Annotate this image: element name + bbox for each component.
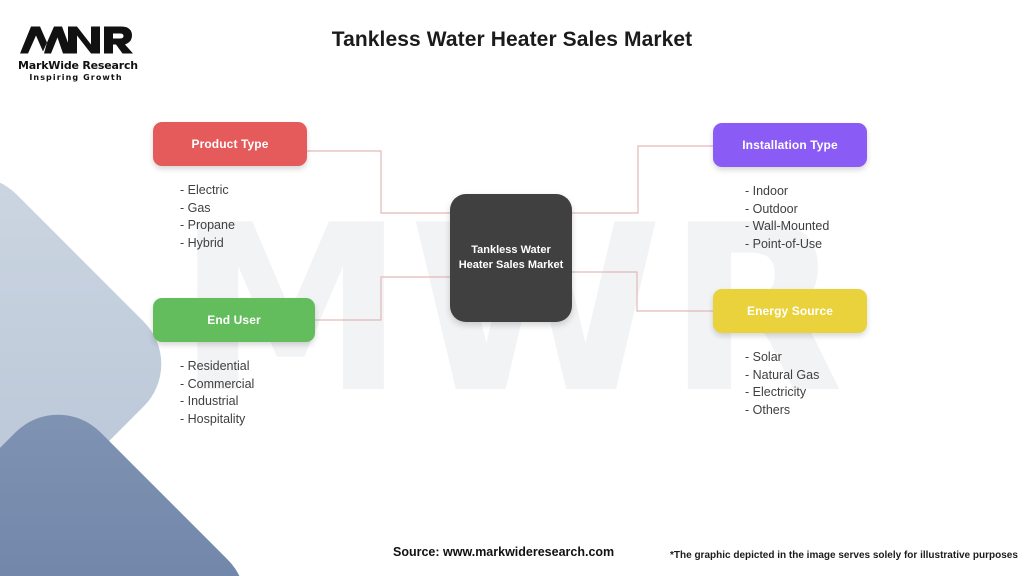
category-list-end-user: - Residential - Commercial - Industrial …	[153, 358, 315, 428]
category-energy-source: Energy Source - Solar - Natural Gas - El…	[713, 289, 867, 419]
list-item: - Wall-Mounted	[745, 218, 867, 236]
list-item: - Commercial	[180, 376, 315, 394]
center-node-text: Tankless Water Heater Sales Market	[451, 243, 572, 273]
category-header-product-type[interactable]: Product Type	[153, 122, 307, 166]
center-node: Tankless Water Heater Sales Market	[450, 194, 572, 322]
list-item: - Industrial	[180, 393, 315, 411]
infographic-canvas: MWR MarkWide Research Inspiring Growth T…	[0, 0, 1024, 576]
list-item: - Propane	[180, 217, 307, 235]
category-end-user: End User - Residential - Commercial - In…	[153, 298, 315, 428]
list-item: - Gas	[180, 200, 307, 218]
center-node-line1: Tankless Water	[471, 244, 550, 256]
category-list-installation-type: - Indoor - Outdoor - Wall-Mounted - Poin…	[713, 183, 867, 253]
connector-product-type	[307, 151, 450, 213]
category-header-end-user[interactable]: End User	[153, 298, 315, 342]
list-item: - Electricity	[745, 384, 867, 402]
category-list-product-type: - Electric - Gas - Propane - Hybrid	[153, 182, 307, 252]
source-label: Source: www.markwideresearch.com	[393, 545, 614, 559]
connector-end-user	[315, 277, 450, 320]
list-item: - Hybrid	[180, 235, 307, 253]
category-installation-type: Installation Type - Indoor - Outdoor - W…	[713, 123, 867, 253]
connector-installation-type	[572, 146, 713, 213]
category-list-energy-source: - Solar - Natural Gas - Electricity - Ot…	[713, 349, 867, 419]
list-item: - Others	[745, 402, 867, 420]
list-item: - Point-of-Use	[745, 236, 867, 254]
list-item: - Indoor	[745, 183, 867, 201]
list-item: - Solar	[745, 349, 867, 367]
center-node-line2: Heater Sales Market	[459, 259, 564, 271]
list-item: - Residential	[180, 358, 315, 376]
disclaimer-label: *The graphic depicted in the image serve…	[670, 550, 1018, 561]
list-item: - Electric	[180, 182, 307, 200]
category-product-type: Product Type - Electric - Gas - Propane …	[153, 122, 307, 252]
category-header-installation-type[interactable]: Installation Type	[713, 123, 867, 167]
list-item: - Natural Gas	[745, 367, 867, 385]
category-header-energy-source[interactable]: Energy Source	[713, 289, 867, 333]
list-item: - Hospitality	[180, 411, 315, 429]
list-item: - Outdoor	[745, 201, 867, 219]
connector-energy-source	[572, 272, 713, 311]
